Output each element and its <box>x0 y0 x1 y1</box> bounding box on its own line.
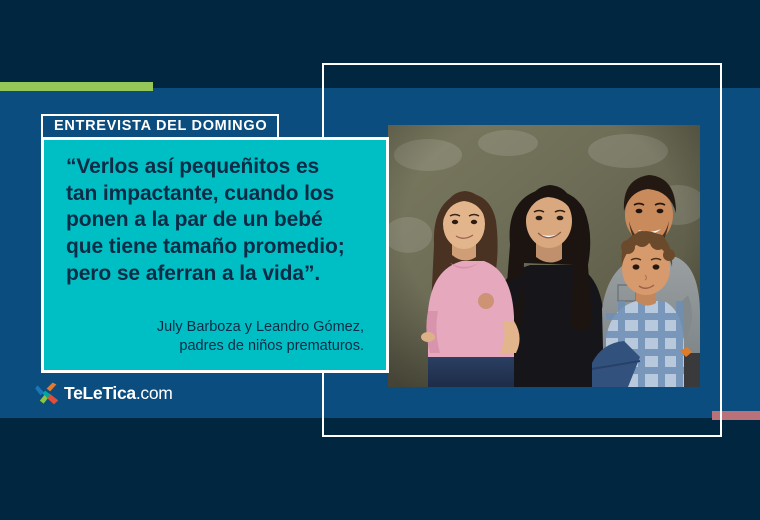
attribution-names: July Barboza y Leandro Gómez, <box>66 318 364 337</box>
quote-line: “Verlos así pequeñitos es <box>66 154 368 181</box>
quote-line: tan impactante, cuando los <box>66 181 368 208</box>
teletica-wordmark: TeLeTica.com <box>64 385 173 403</box>
teletica-brand: TeLeTica <box>64 383 136 403</box>
teletica-logo: TeLeTica.com <box>34 381 173 407</box>
quote-card: “Verlos así pequeñitos es tan impactante… <box>41 137 389 373</box>
teletica-x-mark-icon <box>34 381 60 407</box>
quote-text: “Verlos así pequeñitos es tan impactante… <box>66 154 368 287</box>
section-badge-label: ENTREVISTA DEL DOMINGO <box>54 119 267 134</box>
family-photo <box>388 125 700 387</box>
quote-line: que tiene tamaño promedio; <box>66 234 368 261</box>
quote-attribution: July Barboza y Leandro Gómez, padres de … <box>66 318 368 360</box>
quote-line: pero se aferran a la vida”. <box>66 261 368 288</box>
teletica-domain-suffix: .com <box>136 383 173 403</box>
attribution-role: padres de niños prematuros. <box>66 337 364 356</box>
section-badge: ENTREVISTA DEL DOMINGO <box>41 114 279 139</box>
quote-card-graphic: ENTREVISTA DEL DOMINGO “Verlos así peque… <box>0 0 760 520</box>
quote-line: ponen a la par de un bebé <box>66 207 368 234</box>
accent-bar-green <box>0 82 153 91</box>
